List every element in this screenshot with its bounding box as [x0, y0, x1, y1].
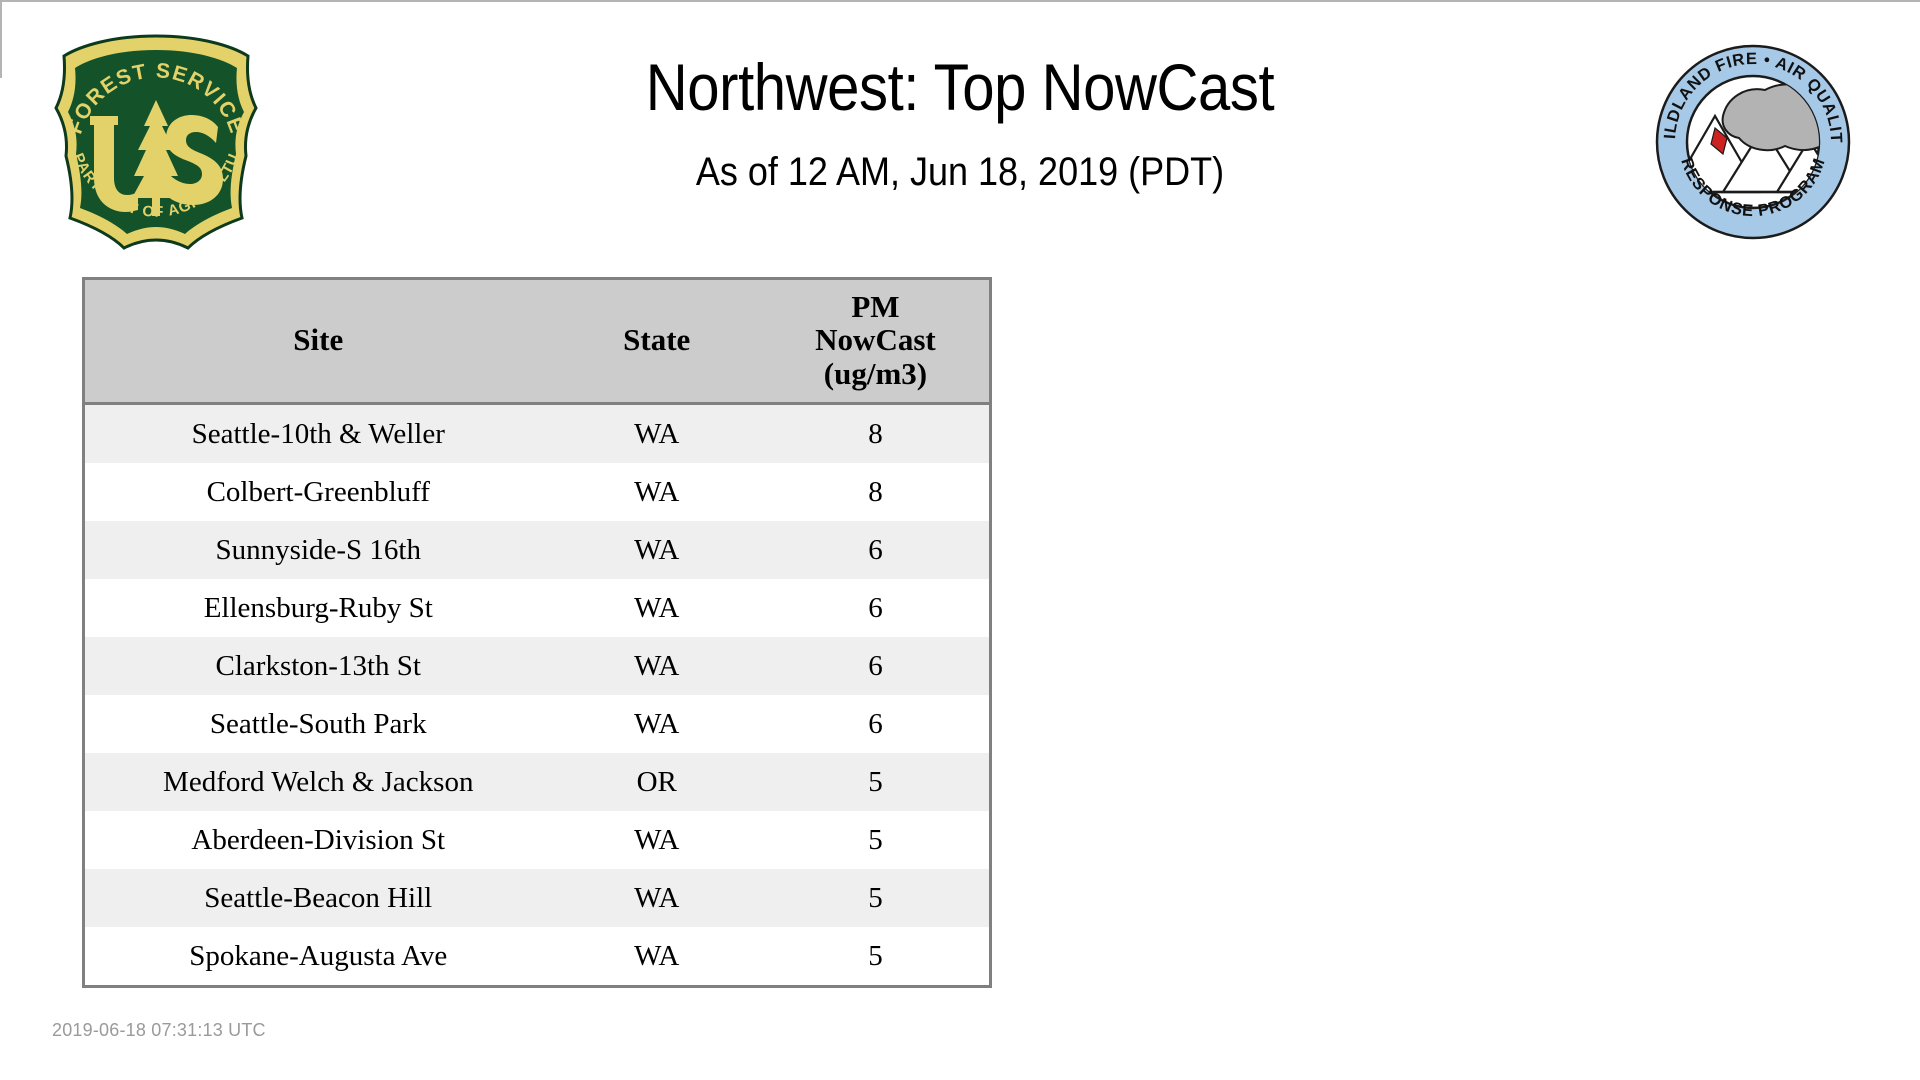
page-title: Northwest: Top NowCast	[379, 50, 1541, 126]
table-header-row: Site State PM NowCast (ug/m3)	[84, 279, 991, 404]
cell-state: WA	[552, 463, 762, 521]
nowcast-table-container: Site State PM NowCast (ug/m3) Seattle-10…	[82, 277, 992, 988]
cell-pm-nowcast: 6	[762, 695, 991, 753]
column-header-site: Site	[84, 279, 552, 404]
cell-pm-nowcast: 5	[762, 927, 991, 987]
column-header-pm-line1: PM	[851, 289, 899, 324]
cell-pm-nowcast: 8	[762, 404, 991, 464]
table-row: Aberdeen-Division StWA5	[84, 811, 991, 869]
table-row: Medford Welch & JacksonOR5	[84, 753, 991, 811]
cell-pm-nowcast: 5	[762, 869, 991, 927]
column-header-state: State	[552, 279, 762, 404]
column-header-pm-nowcast: PM NowCast (ug/m3)	[762, 279, 991, 404]
cell-pm-nowcast: 8	[762, 463, 991, 521]
cell-site: Clarkston-13th St	[84, 637, 552, 695]
page-subtitle: As of 12 AM, Jun 18, 2019 (PDT)	[366, 148, 1554, 196]
cell-state: WA	[552, 579, 762, 637]
forest-service-shield-logo: FOREST SERVICE DEPARTMENT OF AGRICULTURE	[50, 30, 262, 258]
page-frame-top-rule	[0, 0, 1920, 2]
cell-pm-nowcast: 5	[762, 811, 991, 869]
table-row: Sunnyside-S 16thWA6	[84, 521, 991, 579]
table-row: Seattle-Beacon HillWA5	[84, 869, 991, 927]
cell-pm-nowcast: 6	[762, 637, 991, 695]
column-header-pm-line2: NowCast	[815, 322, 936, 357]
cell-site: Seattle-10th & Weller	[84, 404, 552, 464]
cell-site: Seattle-South Park	[84, 695, 552, 753]
cell-site: Ellensburg-Ruby St	[84, 579, 552, 637]
cell-state: WA	[552, 404, 762, 464]
table-body: Seattle-10th & WellerWA8Colbert-Greenblu…	[84, 404, 991, 987]
table-row: Ellensburg-Ruby StWA6	[84, 579, 991, 637]
cell-site: Sunnyside-S 16th	[84, 521, 552, 579]
cell-pm-nowcast: 6	[762, 579, 991, 637]
table-header: Site State PM NowCast (ug/m3)	[84, 279, 991, 404]
cell-pm-nowcast: 6	[762, 521, 991, 579]
top-nowcast-table: Site State PM NowCast (ug/m3) Seattle-10…	[82, 277, 992, 988]
cell-state: WA	[552, 927, 762, 987]
cell-state: WA	[552, 521, 762, 579]
cell-site: Spokane-Augusta Ave	[84, 927, 552, 987]
title-block: Northwest: Top NowCast As of 12 AM, Jun …	[300, 50, 1620, 196]
table-row: Clarkston-13th StWA6	[84, 637, 991, 695]
column-header-site-label: Site	[293, 322, 343, 357]
cell-state: WA	[552, 811, 762, 869]
cell-site: Medford Welch & Jackson	[84, 753, 552, 811]
table-row: Colbert-GreenbluffWA8	[84, 463, 991, 521]
table-row: Spokane-Augusta AveWA5	[84, 927, 991, 987]
table-row: Seattle-10th & WellerWA8	[84, 404, 991, 464]
cell-state: OR	[552, 753, 762, 811]
page-frame-left-rule	[0, 0, 2, 78]
cell-site: Aberdeen-Division St	[84, 811, 552, 869]
generation-timestamp: 2019-06-18 07:31:13 UTC	[52, 1020, 266, 1041]
cell-state: WA	[552, 869, 762, 927]
column-header-state-label: State	[623, 322, 690, 357]
table-row: Seattle-South ParkWA6	[84, 695, 991, 753]
cell-state: WA	[552, 695, 762, 753]
cell-site: Colbert-Greenbluff	[84, 463, 552, 521]
cell-pm-nowcast: 5	[762, 753, 991, 811]
cell-state: WA	[552, 637, 762, 695]
cell-site: Seattle-Beacon Hill	[84, 869, 552, 927]
column-header-pm-line3: (ug/m3)	[824, 356, 927, 391]
wfaqrp-seal-logo: WILDLAND FIRE • AIR QUALITY RESPONSE PRO…	[1653, 42, 1853, 242]
